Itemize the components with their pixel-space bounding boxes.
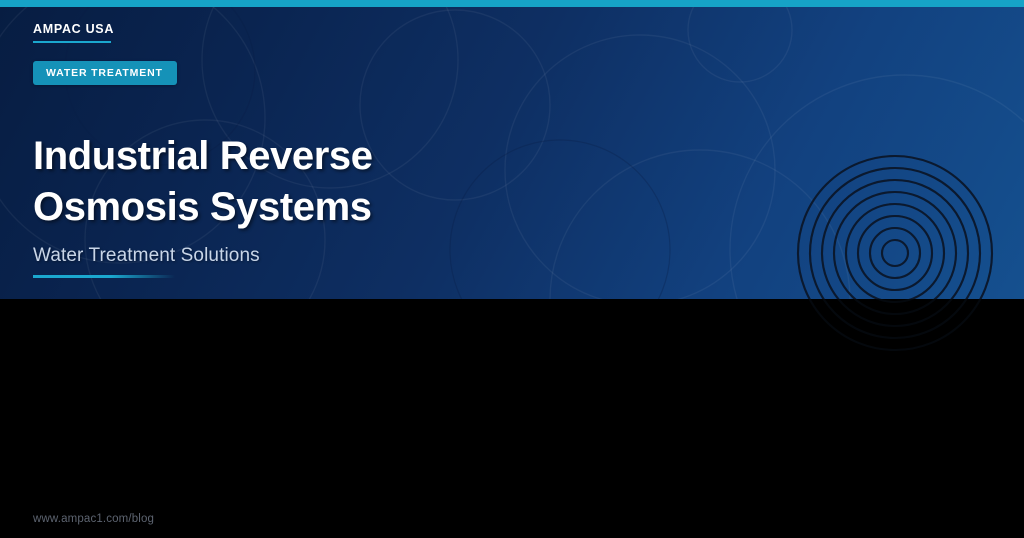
subtitle-underline [33,275,175,278]
concentric-rings-icon [760,120,1024,299]
brand-block: AMPAC USA [33,23,114,43]
footer-url[interactable]: www.ampac1.com/blog [33,513,154,525]
page-title-line-1: Industrial Reverse [33,131,633,182]
top-accent-bar [0,0,1024,7]
page-title-line-2: Osmosis Systems [33,182,633,233]
hero-content: AMPAC USA WATER TREATMENT Industrial Rev… [33,0,673,299]
category-badge[interactable]: WATER TREATMENT [33,61,177,85]
brand-underline [33,41,111,43]
page-title: Industrial Reverse Osmosis Systems [33,131,633,233]
brand-name: AMPAC USA [33,23,114,37]
banner-stage: AMPAC USA WATER TREATMENT Industrial Rev… [0,0,1024,538]
page-subtitle: Water Treatment Solutions [33,244,260,268]
